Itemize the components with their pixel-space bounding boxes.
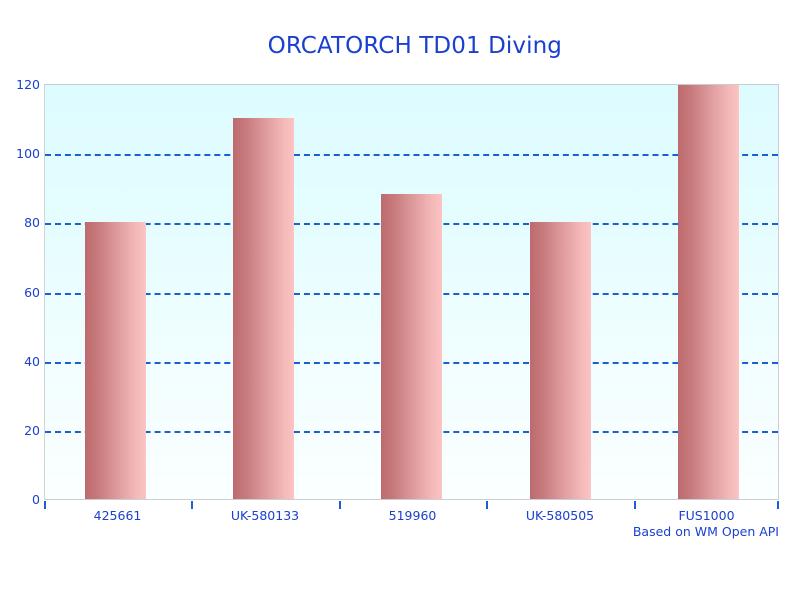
x-tick-label-fus1000: FUS1000 <box>634 508 779 524</box>
bar-425661[interactable] <box>85 222 146 499</box>
y-tick-label-60: 60 <box>2 287 40 299</box>
x-tick-label-uk-580505: UK-580505 <box>486 508 634 524</box>
bar-chart: ORCATORCH TD01 Diving Comparison to othe… <box>0 0 800 600</box>
bar-uk-580133[interactable] <box>233 118 294 499</box>
y-tick-label-80: 80 <box>2 217 40 229</box>
x-tick-label-425661: 425661 <box>44 508 191 524</box>
plot-area <box>44 84 779 500</box>
bar-fus1000[interactable] <box>678 84 739 499</box>
y-axis-tick-labels: 0 20 40 60 80 100 120 <box>0 84 40 500</box>
bars <box>45 85 778 499</box>
x-tick-label-uk-580133: UK-580133 <box>191 508 339 524</box>
y-tick-label-0: 0 <box>2 494 40 506</box>
chart-title-line-1: ORCATORCH TD01 Diving <box>268 33 562 59</box>
bar-uk-580505[interactable] <box>530 222 591 499</box>
y-tick-label-100: 100 <box>2 148 40 160</box>
y-tick-label-120: 120 <box>2 79 40 91</box>
bar-519960[interactable] <box>381 194 442 499</box>
y-tick-label-40: 40 <box>2 356 40 368</box>
y-tick-label-20: 20 <box>2 425 40 437</box>
source-annotation: Based on WM Open API <box>633 524 779 539</box>
x-tick-label-519960: 519960 <box>339 508 486 524</box>
